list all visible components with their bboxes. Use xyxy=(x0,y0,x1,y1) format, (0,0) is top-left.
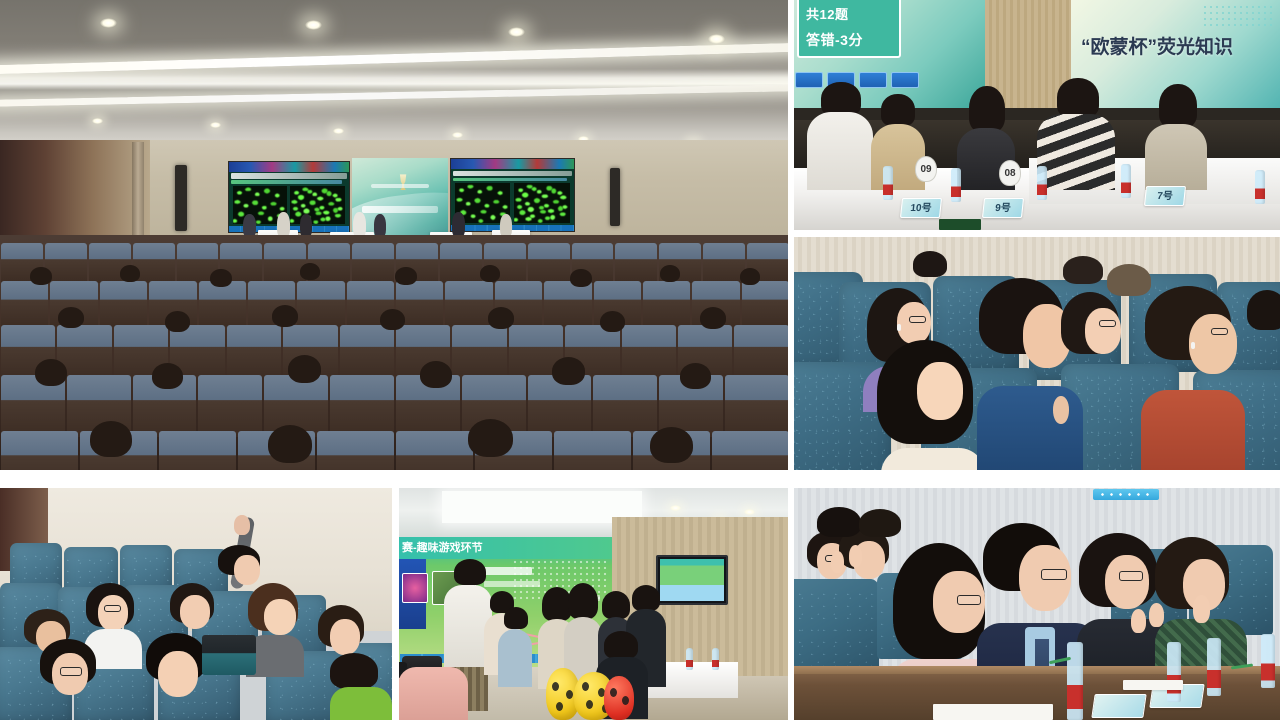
ceiling-light-strip xyxy=(0,43,790,75)
water-bottle xyxy=(1261,634,1275,688)
answer-options-line xyxy=(231,180,341,184)
speaker-icon xyxy=(175,165,187,231)
ceiling-light-strip xyxy=(0,84,790,107)
ceiling-downlight-icon xyxy=(452,132,463,138)
screen-header-bar xyxy=(451,159,574,169)
question-text-line xyxy=(453,171,571,177)
collage-gutter-horizontal xyxy=(793,481,1280,488)
judge-name-placard xyxy=(1091,694,1146,718)
wall-sign-icon xyxy=(1093,489,1159,500)
ceiling-downlight-icon xyxy=(708,34,725,44)
banner-subtitle-line xyxy=(371,184,429,188)
banner-title-line xyxy=(362,206,439,213)
contestant-placard-7: 7号 xyxy=(1144,186,1186,206)
clapping-hand xyxy=(1131,609,1146,633)
led-screen-right[interactable] xyxy=(450,158,575,232)
screen-header-bar xyxy=(229,162,349,172)
score-sheet xyxy=(1123,680,1183,690)
screen-label-chip xyxy=(484,581,540,587)
water-bottle xyxy=(883,166,893,200)
photo-audience-hand-raised[interactable] xyxy=(0,487,392,720)
tv-screen-content xyxy=(660,559,724,601)
score-sheet xyxy=(933,704,1053,720)
ceiling-downlight-icon xyxy=(670,505,681,511)
water-bottle xyxy=(1121,164,1131,198)
contestant-number-tag: 08 xyxy=(999,160,1021,186)
student-green-jacket xyxy=(330,653,392,720)
table-skirt-sign xyxy=(939,219,981,230)
collage-gutter-vertical xyxy=(392,487,399,720)
water-bottle xyxy=(951,168,961,202)
collage-gutter-vertical xyxy=(788,487,794,720)
ceiling-downlight-icon xyxy=(92,118,103,124)
audience-person-right xyxy=(1145,286,1245,481)
question-text-line xyxy=(231,173,346,179)
collage-gutter-horizontal xyxy=(793,230,1280,237)
red-balloon-figure xyxy=(604,676,634,720)
photo-collage: “欧蒙杯”荧光知识 共12题 答错-3分 xyxy=(0,0,1280,720)
contestant-number-tag: 09 xyxy=(915,156,937,182)
screen-title-text: 赛-趣味游戏环节 xyxy=(402,542,483,554)
water-bottle xyxy=(1207,638,1221,696)
ceiling xyxy=(0,0,790,150)
quiz-total-questions: 共12题 xyxy=(806,4,899,23)
screen-photo-thumbnail xyxy=(402,573,428,603)
contestant-4 xyxy=(1037,78,1115,190)
fluorescence-image-b xyxy=(514,183,571,223)
ceiling-downlight-icon xyxy=(508,27,525,37)
student-raising-hand xyxy=(248,583,304,675)
photographer xyxy=(398,667,468,720)
screen-title-bar: 赛-趣味游戏环节 xyxy=(398,537,612,559)
contestant-1 xyxy=(807,82,873,190)
audience-person-glasses-2 xyxy=(1061,292,1125,402)
student-front-glasses xyxy=(40,639,102,720)
photo-main-auditorium[interactable] xyxy=(0,0,790,470)
projector-device xyxy=(202,635,256,675)
quiz-rules-card: 共12题 答错-3分 xyxy=(797,0,901,58)
seat-row xyxy=(0,325,790,379)
photo-judges-panel[interactable] xyxy=(793,487,1280,720)
photo-contestants-panel[interactable]: “欧蒙杯”荧光知识 共12题 答错-3分 xyxy=(793,0,1280,230)
ceiling-downlight-icon xyxy=(100,18,117,28)
raised-hand xyxy=(234,515,250,535)
score-chip xyxy=(891,72,919,88)
clapping-hand xyxy=(849,545,862,567)
ceiling-downlight-icon xyxy=(333,128,344,134)
photo-audience-closeup[interactable] xyxy=(793,236,1280,481)
water-bottle xyxy=(686,648,693,670)
water-bottle xyxy=(1167,642,1181,702)
banner-dot-pattern xyxy=(1202,4,1272,30)
clapping-hand xyxy=(1149,603,1164,627)
clapping-hand xyxy=(831,551,844,573)
side-tv-monitor[interactable] xyxy=(656,555,728,605)
stage-backdrop-banner xyxy=(352,158,448,240)
water-bottle xyxy=(1037,166,1047,200)
water-bottle xyxy=(1255,170,1265,204)
contestant-placard-10: 10号 xyxy=(900,198,942,218)
photo-game-segment[interactable]: 赛-趣味游戏环节 xyxy=(398,487,788,720)
contestant-placard-9: 9号 xyxy=(982,198,1024,218)
ceiling-downlight-icon xyxy=(210,122,221,128)
quiz-penalty-score: 答错-3分 xyxy=(806,30,899,50)
water-bottle xyxy=(1067,642,1083,720)
ceiling-downlight-icon xyxy=(744,509,755,515)
ceiling-downlight-icon xyxy=(305,20,322,30)
contestant-5 xyxy=(1145,84,1207,190)
audience-person-front-left xyxy=(877,340,987,481)
fluorescence-image-b xyxy=(290,186,345,225)
answer-options-line xyxy=(453,178,566,182)
water-bottle xyxy=(712,648,719,670)
audience-person-edge xyxy=(1247,290,1280,364)
speaker-icon xyxy=(610,168,620,226)
banner-title-text: “欧蒙杯”荧光知识 xyxy=(1081,32,1233,59)
game-participant-blue xyxy=(498,607,532,711)
auditorium-seating xyxy=(0,235,790,470)
clapping-hand xyxy=(1193,595,1210,623)
